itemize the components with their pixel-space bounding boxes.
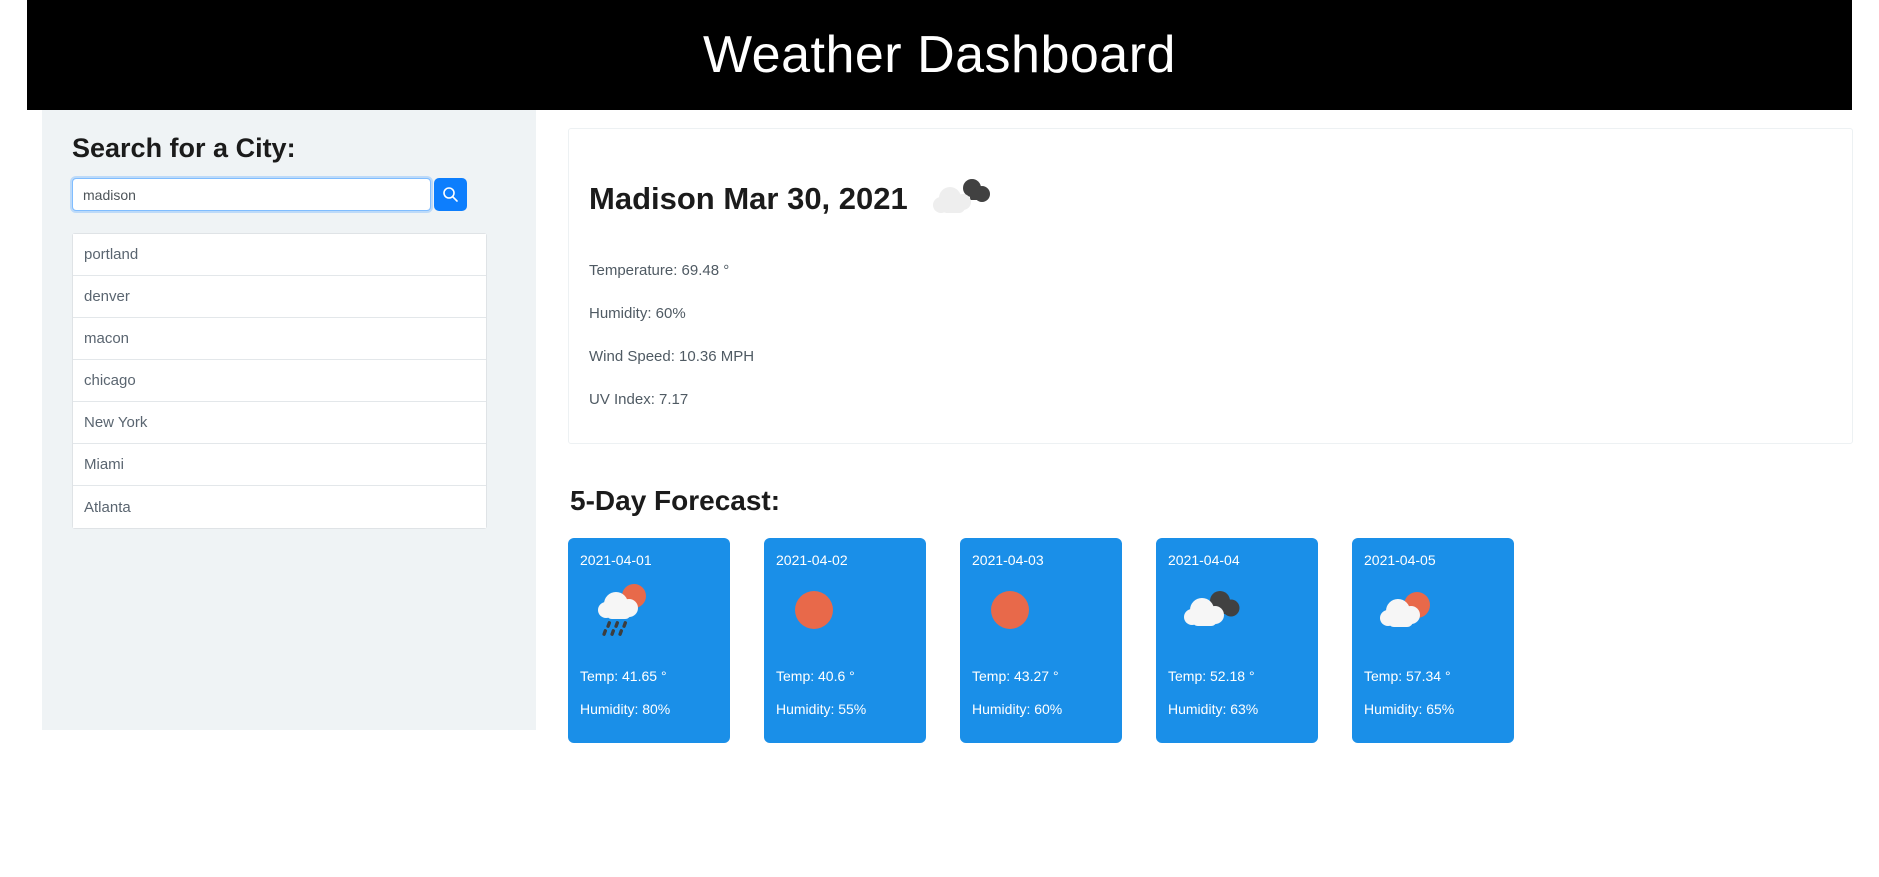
page-title: Weather Dashboard (703, 29, 1176, 81)
forecast-humidity: Humidity: 60% (972, 701, 1122, 718)
scattered-clouds-sun-icon (1364, 576, 1514, 646)
humidity-value: Humidity: 60% (589, 305, 1852, 323)
forecast-temp: Temp: 57.34 ° (1364, 668, 1514, 685)
clear-sun-icon (972, 576, 1122, 646)
list-item[interactable]: New York (73, 402, 486, 444)
list-item[interactable]: macon (73, 318, 486, 360)
forecast-card[interactable]: 2021-04-02 Temp: 40.6 ° Humidity: 55% (764, 538, 926, 743)
forecast-date: 2021-04-01 (580, 552, 730, 569)
forecast-humidity: Humidity: 80% (580, 701, 730, 718)
search-button[interactable] (434, 178, 467, 211)
list-item[interactable]: portland (73, 234, 486, 276)
list-item[interactable]: Atlanta (73, 486, 486, 528)
sidebar-heading: Search for a City: (72, 132, 516, 164)
search-input[interactable] (72, 178, 431, 211)
forecast-card[interactable]: 2021-04-01 (568, 538, 730, 743)
city-name: Atlanta (84, 499, 131, 516)
forecast-date: 2021-04-05 (1364, 552, 1514, 569)
main-content: Madison Mar 30, 2021 (568, 128, 1853, 743)
city-name: Miami (84, 456, 124, 473)
current-weather-card: Madison Mar 30, 2021 (568, 128, 1853, 444)
forecast-temp: Temp: 41.65 ° (580, 668, 730, 685)
current-city-date: Madison Mar 30, 2021 (589, 182, 908, 216)
city-name: New York (84, 414, 147, 431)
city-name: macon (84, 330, 129, 347)
forecast-temp: Temp: 43.27 ° (972, 668, 1122, 685)
app-header: Weather Dashboard (27, 0, 1852, 110)
list-item[interactable]: Miami (73, 444, 486, 486)
temperature-value: Temperature: 69.48 ° (589, 262, 1852, 280)
broken-clouds-icon (1168, 576, 1318, 646)
forecast-date: 2021-04-04 (1168, 552, 1318, 569)
forecast-card[interactable]: 2021-04-05 Temp: 57.34 ° Humidity: 65% (1352, 538, 1514, 743)
forecast-date: 2021-04-03 (972, 552, 1122, 569)
forecast-temp: Temp: 52.18 ° (1168, 668, 1318, 685)
uv-index-value: UV Index: 7.17 (589, 391, 1852, 409)
forecast-card-row: 2021-04-01 (568, 538, 1853, 743)
city-name: portland (84, 246, 138, 263)
forecast-date: 2021-04-02 (776, 552, 926, 569)
city-name: denver (84, 288, 130, 305)
broken-clouds-icon (930, 175, 992, 224)
forecast-heading: 5-Day Forecast: (570, 484, 1853, 518)
clear-sun-icon (776, 576, 926, 646)
weather-dashboard-page: Weather Dashboard Search for a City: por… (0, 0, 1879, 877)
forecast-temp: Temp: 40.6 ° (776, 668, 926, 685)
rain-with-sun-icon (580, 576, 730, 646)
list-item[interactable]: denver (73, 276, 486, 318)
forecast-humidity: Humidity: 55% (776, 701, 926, 718)
current-weather-header: Madison Mar 30, 2021 (589, 175, 1852, 224)
forecast-card[interactable]: 2021-04-04 (1156, 538, 1318, 743)
search-sidebar: Search for a City: portland denver macon… (42, 110, 536, 730)
search-icon (442, 186, 459, 203)
city-name: chicago (84, 372, 136, 389)
search-form (72, 178, 467, 211)
forecast-humidity: Humidity: 65% (1364, 701, 1514, 718)
forecast-humidity: Humidity: 63% (1168, 701, 1318, 718)
city-history-list: portland denver macon chicago New York M… (72, 233, 487, 529)
forecast-card[interactable]: 2021-04-03 Temp: 43.27 ° Humidity: 60% (960, 538, 1122, 743)
wind-speed-value: Wind Speed: 10.36 MPH (589, 348, 1852, 366)
list-item[interactable]: chicago (73, 360, 486, 402)
